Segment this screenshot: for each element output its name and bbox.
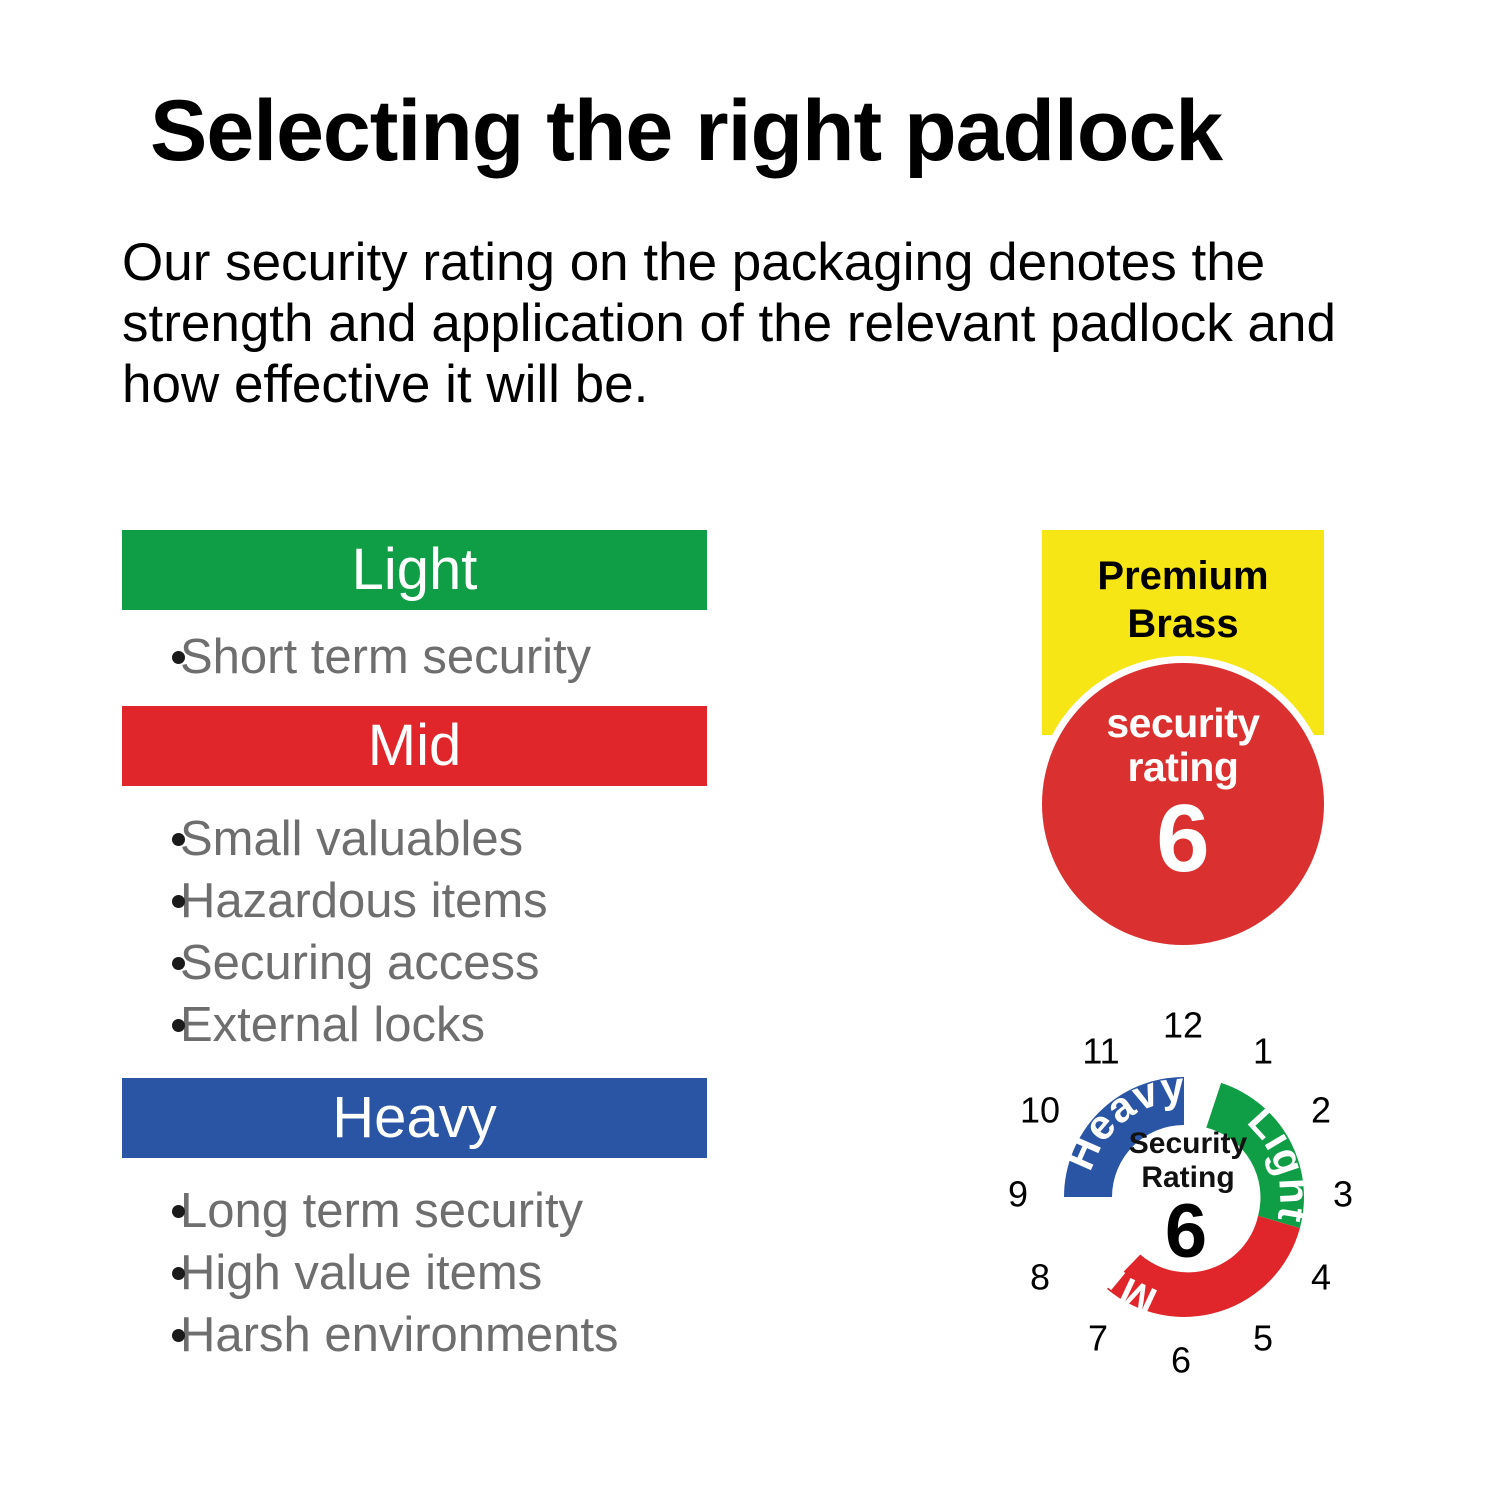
list-item-label: Hazardous items bbox=[180, 874, 548, 928]
premium-brass-badge: Premium Brass security rating 6 bbox=[1042, 530, 1324, 942]
bullet-dot-icon bbox=[172, 895, 185, 908]
bullet-dot-icon bbox=[172, 1329, 185, 1342]
gauge-center-score: 6 bbox=[1165, 1189, 1207, 1274]
gauge-tick-7: 7 bbox=[1088, 1318, 1108, 1359]
bullet-dot-icon bbox=[172, 833, 185, 846]
bullet-list-mid: Small valuables Hazardous items Securing… bbox=[122, 786, 707, 1078]
infographic-page: Selecting the right padlock Our security… bbox=[0, 0, 1500, 1500]
intro-paragraph: Our security rating on the packaging den… bbox=[122, 232, 1392, 415]
gauge-svg: Light Mid Heavy Security Rating 6 1 2 3 … bbox=[964, 977, 1404, 1417]
list-item: External locks bbox=[122, 994, 707, 1056]
brass-panel-label: Premium Brass bbox=[1042, 552, 1324, 648]
bullet-dot-icon bbox=[172, 957, 185, 970]
security-rating-circle: security rating 6 bbox=[1042, 663, 1324, 945]
gauge-tick-5: 5 bbox=[1253, 1318, 1273, 1359]
gauge-tick-6: 6 bbox=[1171, 1340, 1191, 1381]
category-bar-heavy[interactable]: Heavy bbox=[122, 1078, 707, 1158]
list-item-label: External locks bbox=[180, 998, 485, 1052]
gauge-tick-10: 10 bbox=[1020, 1090, 1060, 1131]
page-title: Selecting the right padlock bbox=[150, 88, 1390, 174]
category-group-light: Light Short term security bbox=[122, 530, 707, 706]
gauge-center-line1: Security bbox=[1129, 1127, 1248, 1160]
gauge-tick-12: 12 bbox=[1163, 1005, 1203, 1046]
list-item: Harsh environments bbox=[122, 1304, 707, 1366]
gauge-tick-2: 2 bbox=[1311, 1090, 1331, 1131]
category-bar-mid[interactable]: Mid bbox=[122, 706, 707, 786]
list-item: Small valuables bbox=[122, 808, 707, 870]
list-item-label: Securing access bbox=[180, 936, 540, 990]
list-item: Short term security bbox=[122, 626, 707, 688]
list-item: High value items bbox=[122, 1242, 707, 1304]
list-item-label: Short term security bbox=[180, 630, 591, 684]
bullet-dot-icon bbox=[172, 1019, 185, 1032]
list-item-label: High value items bbox=[180, 1246, 542, 1300]
category-bar-light[interactable]: Light bbox=[122, 530, 707, 610]
category-group-mid: Mid Small valuables Hazardous items Secu… bbox=[122, 706, 707, 1078]
gauge-tick-8: 8 bbox=[1030, 1257, 1050, 1298]
list-item: Securing access bbox=[122, 932, 707, 994]
list-item: Long term security bbox=[122, 1180, 707, 1242]
gauge-tick-1: 1 bbox=[1253, 1031, 1273, 1072]
list-item-label: Long term security bbox=[180, 1184, 583, 1238]
category-list: Light Short term security Mid Small valu… bbox=[122, 530, 707, 1366]
security-rating-caption: security rating bbox=[1042, 701, 1324, 789]
bullet-dot-icon bbox=[172, 1205, 185, 1218]
gauge-arc-label-mid-text: Mid bbox=[1071, 1241, 1164, 1326]
gauge-tick-9: 9 bbox=[1008, 1174, 1028, 1215]
list-item-label: Small valuables bbox=[180, 812, 523, 866]
security-rating-gauge: Light Mid Heavy Security Rating 6 1 2 3 … bbox=[964, 977, 1404, 1417]
list-item-label: Harsh environments bbox=[180, 1308, 618, 1362]
bullet-list-light: Short term security bbox=[122, 610, 707, 706]
security-rating-score: 6 bbox=[1042, 789, 1324, 889]
bullet-dot-icon bbox=[172, 651, 185, 664]
category-group-heavy: Heavy Long term security High value item… bbox=[122, 1078, 707, 1366]
bullet-dot-icon bbox=[172, 1267, 185, 1280]
bullet-list-heavy: Long term security High value items Hars… bbox=[122, 1158, 707, 1366]
gauge-tick-4: 4 bbox=[1311, 1257, 1331, 1298]
gauge-tick-11: 11 bbox=[1082, 1031, 1119, 1072]
gauge-tick-3: 3 bbox=[1333, 1174, 1353, 1215]
gauge-arc-label-mid: Mid bbox=[1071, 1241, 1164, 1326]
list-item: Hazardous items bbox=[122, 870, 707, 932]
